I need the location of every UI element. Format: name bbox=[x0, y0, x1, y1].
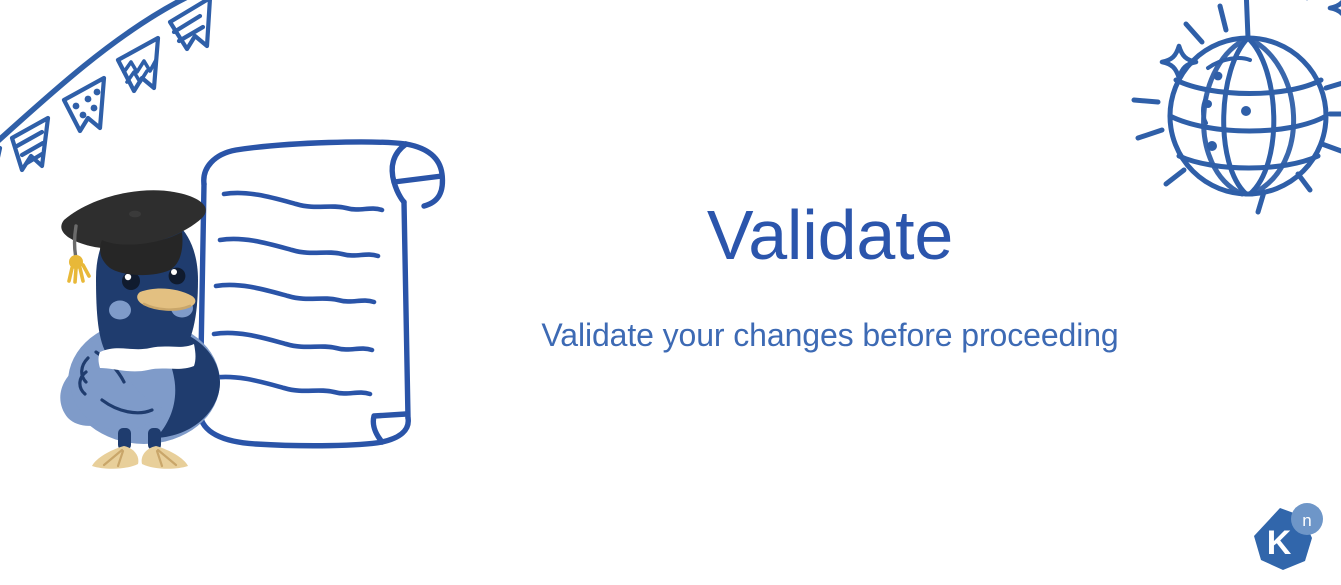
page-title: Validate bbox=[470, 198, 1190, 272]
circle-shape bbox=[1291, 503, 1323, 535]
logo-letter-n: n bbox=[1302, 511, 1311, 530]
hexagon-shape bbox=[1254, 508, 1312, 570]
graduate-bird-mascot bbox=[52, 186, 238, 471]
disco-ball-icon bbox=[1122, 0, 1341, 226]
slide-canvas: Validate Validate your changes before pr… bbox=[0, 0, 1341, 585]
page-subtitle: Validate your changes before proceeding bbox=[470, 316, 1190, 354]
certificate-scroll-icon bbox=[178, 132, 468, 452]
hero-text-block: Validate Validate your changes before pr… bbox=[470, 198, 1190, 355]
kn-badge-logo: K n bbox=[1248, 502, 1328, 580]
bunting-garland-icon bbox=[0, 0, 234, 198]
logo-letter-k: K bbox=[1267, 524, 1292, 562]
